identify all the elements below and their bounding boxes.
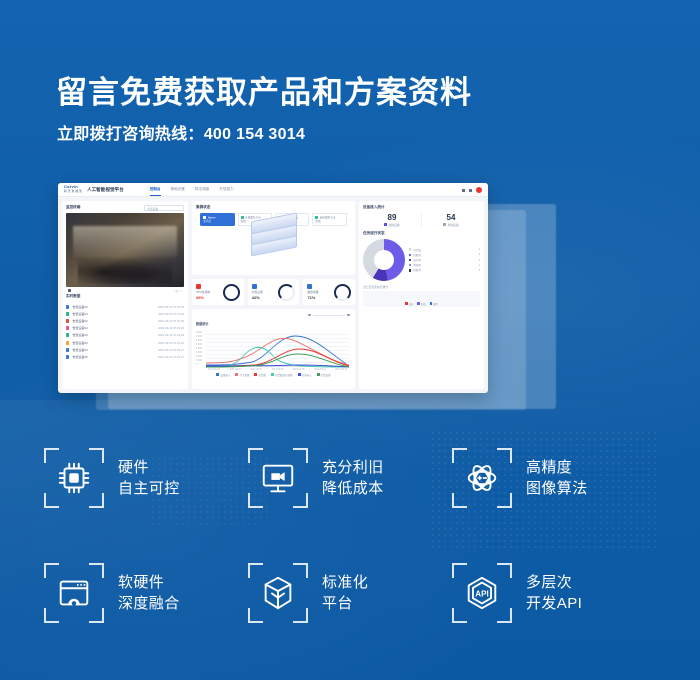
brand-logo: Corvin 科沃思视觉 [64, 185, 83, 194]
nav-item-open-capability[interactable]: 开放能力 [219, 187, 233, 192]
chart-legend: 设备接入 已下发量 告警数 告警触发记录数 任务接入 告警处理 [196, 373, 351, 377]
list-item[interactable]: 告警设备042021-09-13 07:23:24 [66, 310, 184, 317]
stack-illustration [251, 217, 297, 259]
dashboard-body: 全部设备 监控终端 ◁▷ ⛶ 实时数据 告警设备022021-09-13 07:… [58, 197, 488, 393]
feature-label: 标准化平台 [322, 572, 368, 614]
window-controls [462, 187, 482, 193]
gauge-ring [334, 284, 351, 301]
kpi-row: 89 在线设备 54 离线设备 [363, 213, 480, 227]
status-dot-icon [203, 216, 206, 219]
memory-icon [252, 284, 257, 289]
kpi-online: 89 在线设备 [363, 213, 421, 227]
feature-algorithm: 高精度图像算法 [452, 448, 656, 508]
monitor-camera-icon [248, 448, 308, 508]
tab-transcode-node[interactable]: 转码服务节点在线 [312, 213, 346, 226]
monitor-panel: 全部设备 监控终端 ◁▷ ⛶ 实时数据 告警设备022021-09-13 07:… [62, 201, 188, 389]
hero-headline: 留言免费获取产品和方案资料 [56, 67, 472, 112]
maximize-icon[interactable] [469, 189, 472, 192]
cluster-header: 集群状态 [196, 205, 351, 210]
chip-icon [44, 448, 104, 508]
chart-plot-area: 8,000 7,000 6,000 5,000 4,000 3,000 2,00… [196, 332, 351, 368]
chevron-left-icon[interactable]: ‹ [196, 218, 197, 222]
trend-chart-card: 数据统计 8,000 7,000 6,000 5,000 4,000 3,000… [192, 309, 355, 389]
video-feed[interactable] [66, 213, 184, 287]
chevron-right-icon[interactable]: › [350, 218, 351, 222]
gauge-cpu: CPU使用率 98% [192, 279, 244, 305]
tab-master-node[interactable]: Master主节点 [200, 213, 234, 226]
alert-list: 告警设备022021-09-13 07:23:32 告警设备042021-09-… [66, 303, 184, 361]
kpi-offline: 54 离线设备 [421, 213, 480, 227]
list-item[interactable]: 告警设备042021-09-13 07:23:29 [66, 332, 184, 339]
stats-header: 设备接入统计 [363, 205, 480, 210]
donut-header: 任务运行状态 [363, 231, 480, 236]
list-item[interactable]: 告警设备022021-09-13 07:23:32 [66, 303, 184, 310]
nav-item-algorithm[interactable]: 算法调度 [195, 187, 209, 192]
video-controls[interactable]: ◁▷ ⛶ [174, 289, 182, 293]
nav-item-console[interactable]: 控制台 [150, 187, 161, 192]
list-item[interactable]: 告警设备042021-09-13 07:23:27 [66, 346, 184, 353]
device-select[interactable]: 全部设备 [144, 205, 184, 211]
hero-subline: 立即拨打咨询热线：400 154 3014 [57, 120, 305, 144]
list-item[interactable]: 告警设备052021-09-13 07:23:27 [66, 353, 184, 360]
gauge-ring [278, 284, 295, 301]
chart-range-slider[interactable] [308, 313, 350, 317]
gauge-ring [223, 284, 240, 301]
dashboard-showcase: Corvin 科沃思视觉 人工智能视觉平台 控制台 基础设置 算法调度 开放能力… [0, 178, 700, 423]
feature-reuse: 充分利旧降低成本 [248, 448, 452, 508]
record-icon[interactable] [68, 289, 71, 292]
svg-text:API: API [475, 589, 488, 598]
open-box-icon [248, 563, 308, 623]
chart-x-axis: 2021-09-032021-09-05 2021-09-072021-09-0… [196, 369, 351, 371]
close-icon[interactable] [476, 187, 482, 193]
status-dot-icon [315, 216, 318, 219]
gauge-row: CPU使用率 98% 内存占用 42% [192, 279, 355, 305]
feature-api: API 多层次开发API [452, 563, 656, 623]
dashboard-header: Corvin 科沃思视觉 人工智能视觉平台 控制台 基础设置 算法调度 开放能力 [58, 183, 488, 197]
feature-label: 软硬件深度融合 [118, 572, 180, 614]
atom-icon [452, 448, 512, 508]
feature-label: 高精度图像算法 [526, 457, 588, 499]
cluster-panel: 集群状态 ‹ Master主节点 计算服务节点在线 存储服务节点在线 [192, 201, 355, 389]
dashboard-title: 人工智能视觉平台 [87, 187, 124, 193]
donut-chart-row: 已完成2 已取消4 运行中3 等待中1 排队中3 [363, 239, 480, 281]
feature-grid: 硬件自主可控 充分利旧降低成本 [0, 448, 700, 623]
alerts-header: 实时数据 [66, 294, 184, 299]
gauge-disk: 磁盘容量 71% [303, 279, 355, 305]
feature-platform: 标准化平台 [248, 563, 452, 623]
stats-panel: 设备接入统计 89 在线设备 54 离线设备 任务运行状态 已完成2 [359, 201, 484, 389]
cluster-status-card: 集群状态 ‹ Master主节点 计算服务节点在线 存储服务节点在线 [192, 201, 355, 275]
status-dot-icon [241, 216, 244, 219]
chart-title: 数据统计 [196, 322, 209, 326]
mini-chart-box: 成功 失败 超时 [363, 291, 480, 307]
nav-item-basic-settings[interactable]: 基础设置 [171, 187, 185, 192]
feature-label: 充分利旧降低成本 [322, 457, 384, 499]
donut-legend: 已完成2 已取消4 运行中3 等待中1 排队中3 [409, 247, 480, 273]
list-item[interactable]: 告警设备032021-09-13 07:23:22 [66, 339, 184, 346]
window-gear-icon [44, 563, 104, 623]
list-item[interactable]: 告警设备022021-09-13 07:23:23 [66, 325, 184, 332]
gauge-memory: 内存占用 42% [248, 279, 300, 305]
feature-integration: 软硬件深度融合 [44, 563, 248, 623]
video-toolbar: ◁▷ ⛶ [66, 287, 184, 294]
mini-chart-legend: 成功 失败 超时 [363, 302, 480, 306]
api-hexagon-icon: API [452, 563, 512, 623]
list-item[interactable]: 告警设备022021-09-13 07:23:30 [66, 317, 184, 324]
dashboard-window: Corvin 科沃思视觉 人工智能视觉平台 控制台 基础设置 算法调度 开放能力… [58, 183, 488, 393]
donut-chart [363, 239, 405, 281]
dashboard-nav: 控制台 基础设置 算法调度 开放能力 [150, 187, 234, 192]
stats-sub-header: 近七日任务执行统计 [363, 285, 480, 289]
feature-label: 硬件自主可控 [118, 457, 180, 499]
feature-hardware: 硬件自主可控 [44, 448, 248, 508]
feature-label: 多层次开发API [526, 572, 582, 614]
cpu-icon [196, 284, 201, 289]
disk-icon [307, 284, 312, 289]
minimize-icon[interactable] [462, 189, 465, 192]
